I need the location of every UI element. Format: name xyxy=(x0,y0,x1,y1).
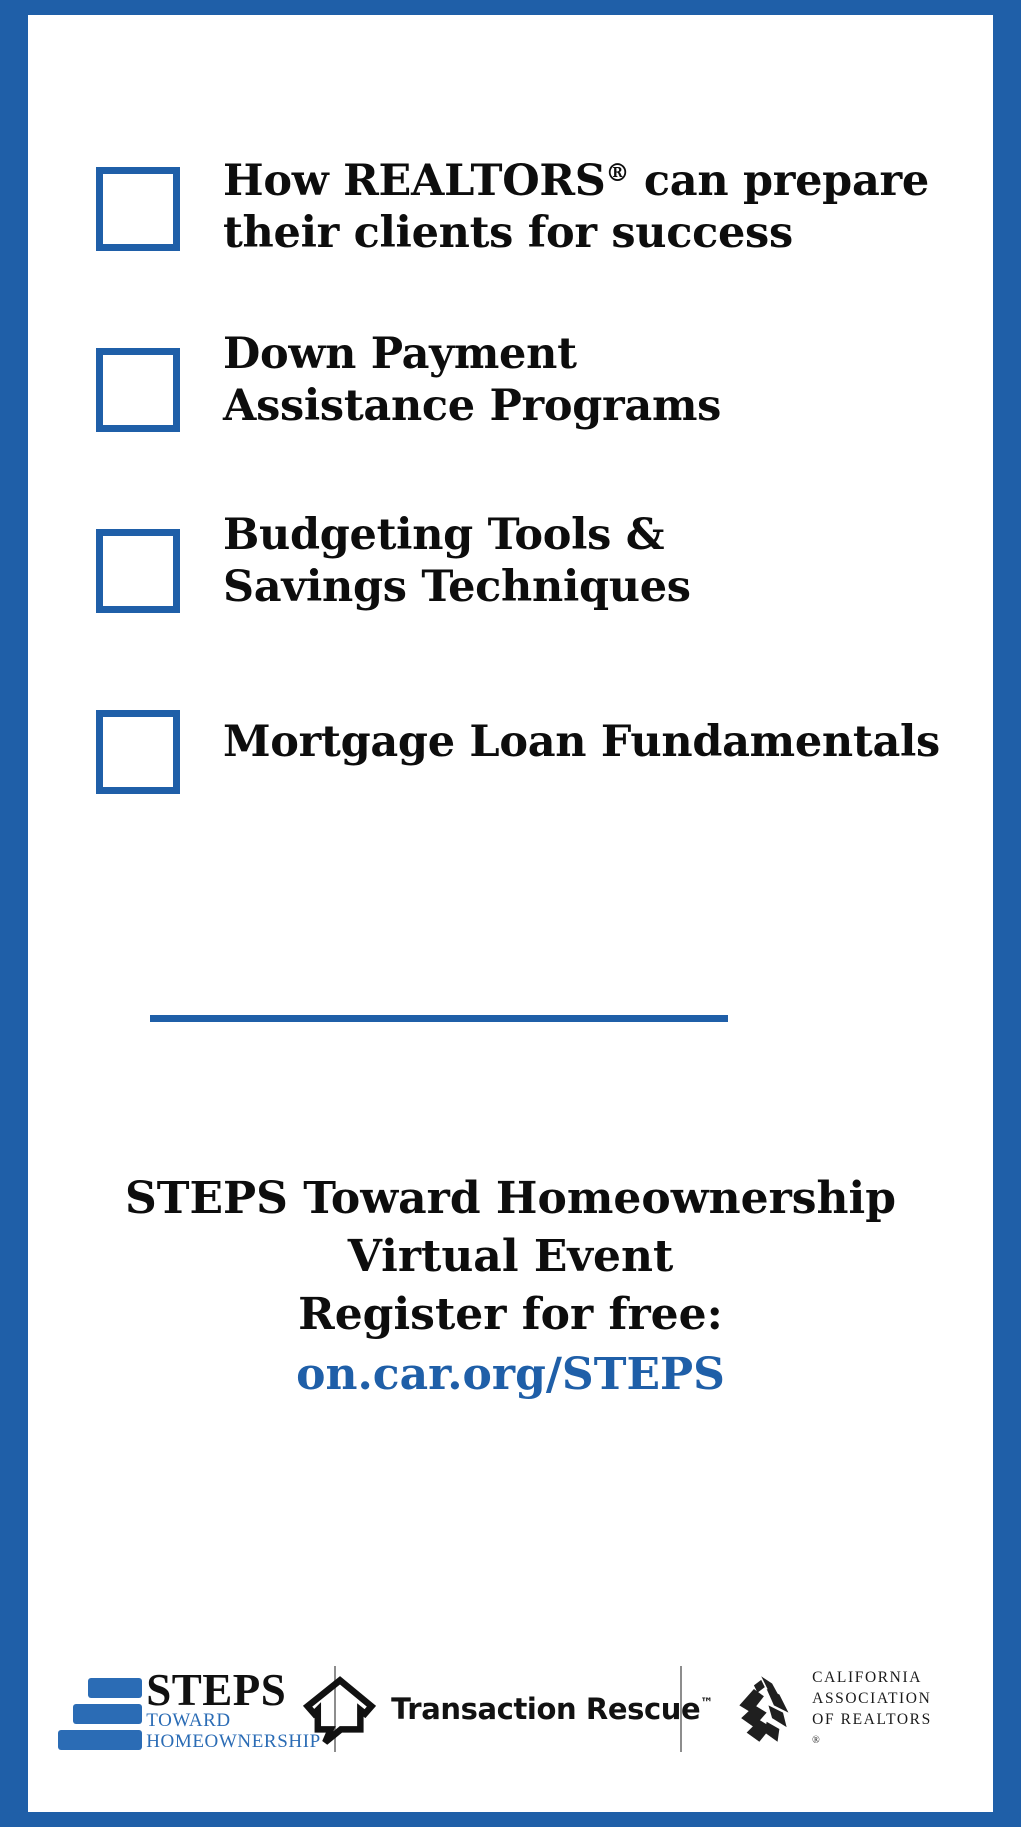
event-registration-link[interactable]: on.car.org/STEPS xyxy=(28,1344,993,1406)
checklist-item-1-label: How REALTORS® can preparetheir clients f… xyxy=(223,147,983,259)
event-info: STEPS Toward Homeownership Virtual Event… xyxy=(28,1170,993,1406)
transaction-rescue-logo[interactable]: Transaction Rescue™ xyxy=(358,1659,658,1759)
checkbox-icon-2[interactable] xyxy=(96,348,180,432)
checklist-item-1-line2-text: their clients for success xyxy=(223,208,793,258)
event-title-line1: STEPS Toward Homeownership xyxy=(28,1170,993,1228)
registered-mark-icon: ® xyxy=(606,158,630,187)
checklist-item-1[interactable]: How REALTORS® can preparetheir clients f… xyxy=(28,147,993,287)
checklist-item-3-line1-text: Budgeting Tools & xyxy=(223,510,664,560)
car-emblem-icon xyxy=(726,1669,800,1749)
poster-content: How REALTORS® can preparetheir clients f… xyxy=(28,15,993,1812)
checklist-item-3-label: Budgeting Tools &Savings Techniques xyxy=(223,509,983,613)
steps-logo-tagline-2: HOMEOWNERSHIP xyxy=(146,1731,321,1752)
car-line-1: CALIFORNIA xyxy=(812,1667,932,1688)
poster-canvas: How REALTORS® can preparetheir clients f… xyxy=(0,0,1021,1827)
checklist-item-1-line1-tail: can prepare xyxy=(629,156,929,206)
section-divider xyxy=(150,1015,728,1022)
registered-mark-icon-car: ® xyxy=(812,1730,932,1751)
car-line-2: ASSOCIATION xyxy=(812,1688,932,1709)
car-line-3: OF REALTORS xyxy=(812,1709,932,1730)
event-register-label: Register for free: xyxy=(28,1286,993,1344)
checklist-item-4-label: Mortgage Loan Fundamentals xyxy=(223,716,983,768)
checkbox-icon-4[interactable] xyxy=(96,710,180,794)
checkbox-icon-1[interactable] xyxy=(96,167,180,251)
footer-logo-bar: STEPS TOWARD HOMEOWNERSHIP Transaction R… xyxy=(28,1654,993,1764)
checklist-item-2[interactable]: Down PaymentAssistance Programs xyxy=(28,328,993,468)
california-association-of-realtors-logo[interactable]: CALIFORNIA ASSOCIATION OF REALTORS® xyxy=(704,1659,954,1759)
footer-divider-2 xyxy=(680,1666,682,1752)
checklist-item-3-line2-text: Savings Techniques xyxy=(223,562,691,612)
checklist-item-3[interactable]: Budgeting Tools &Savings Techniques xyxy=(28,509,993,649)
steps-logo-wordmark: STEPS xyxy=(146,1670,321,1710)
checklist-item-1-line1-text: How REALTORS xyxy=(223,156,606,206)
transaction-rescue-wordmark: Transaction Rescue™ xyxy=(391,1692,713,1726)
checklist-item-2-label: Down PaymentAssistance Programs xyxy=(223,328,983,432)
car-line-3-wrapper: OF REALTORS® xyxy=(812,1709,932,1751)
checklist-item-4-line1-text: Mortgage Loan Fundamentals xyxy=(223,717,940,767)
transaction-rescue-text: Transaction Rescue xyxy=(391,1692,700,1726)
steps-stairs-icon xyxy=(58,1674,142,1750)
steps-logo[interactable]: STEPS TOWARD HOMEOWNERSHIP xyxy=(67,1659,312,1759)
checklist-item-4[interactable]: Mortgage Loan Fundamentals xyxy=(28,690,993,830)
checklist-item-2-line2-text: Assistance Programs xyxy=(223,381,721,431)
car-wordmark: CALIFORNIA ASSOCIATION OF REALTORS® xyxy=(812,1667,932,1751)
checkbox-icon-3[interactable] xyxy=(96,529,180,613)
event-title-line2: Virtual Event xyxy=(28,1228,993,1286)
checklist-item-2-line1-text: Down Payment xyxy=(223,329,577,379)
